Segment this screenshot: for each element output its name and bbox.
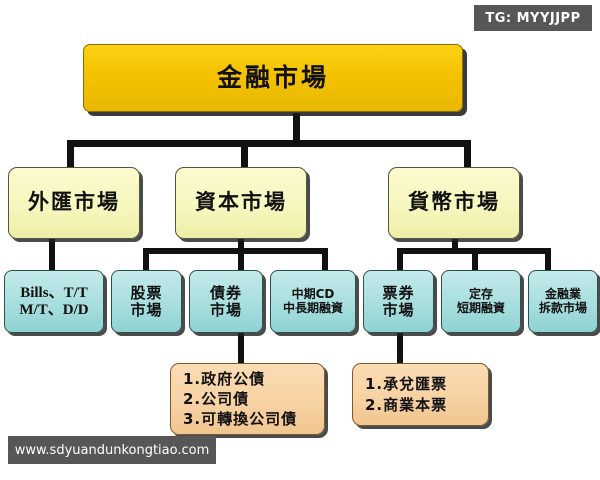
node-bond-market[interactable]: 債券 市場 [189,270,263,333]
connector-drop-stock [143,248,149,271]
site-url-watermark: www.sdyuandunkongtiao.com [8,436,216,464]
node-bill-finance-market[interactable]: 票券 市場 [363,270,434,333]
connector-drop-cd [322,248,328,271]
node-capital-market[interactable]: 資本市場 [175,167,307,239]
node-money-market[interactable]: 貨幣市場 [388,167,520,239]
connector-forex-to-bills [49,239,55,271]
connector-drop-interbank [545,248,551,271]
connector-capital-bus [143,248,328,254]
node-bill-types-leaf[interactable]: 1.承兌匯票 2.商業本票 [352,363,489,426]
connector-level2-bus [67,140,471,147]
connector-notes-to-leaf [397,333,403,364]
org-chart-canvas: 金融市場 外匯市場 資本市場 貨幣市場 Bills、T/T M/T、D/D 股票… [0,0,600,480]
node-bills-tt-mt-dd[interactable]: Bills、T/T M/T、D/D [4,270,104,333]
node-time-deposit-short-term-finance[interactable]: 定存 短期融資 [441,270,521,333]
tg-watermark: TG: MYYJJPP [474,5,592,31]
connector-drop-notes [397,248,403,271]
connector-bond-to-leaf [238,333,244,364]
connector-drop-bond [238,248,244,271]
connector-drop-capital [241,140,248,168]
node-forex-market[interactable]: 外匯市場 [8,167,140,239]
connector-drop-deposit [472,248,478,271]
node-stock-market[interactable]: 股票 市場 [111,270,182,333]
node-root-financial-market[interactable]: 金融市場 [83,44,463,112]
node-bond-types-leaf[interactable]: 1.政府公債 2.公司債 3.可轉換公司債 [170,363,325,435]
node-interbank-call-loan-market[interactable]: 金融業 拆款市場 [528,270,598,333]
node-mid-term-cd[interactable]: 中期CD 中長期融資 [270,270,356,333]
connector-root-stem [293,113,300,143]
connector-drop-forex [67,140,74,168]
connector-drop-money [464,140,471,168]
